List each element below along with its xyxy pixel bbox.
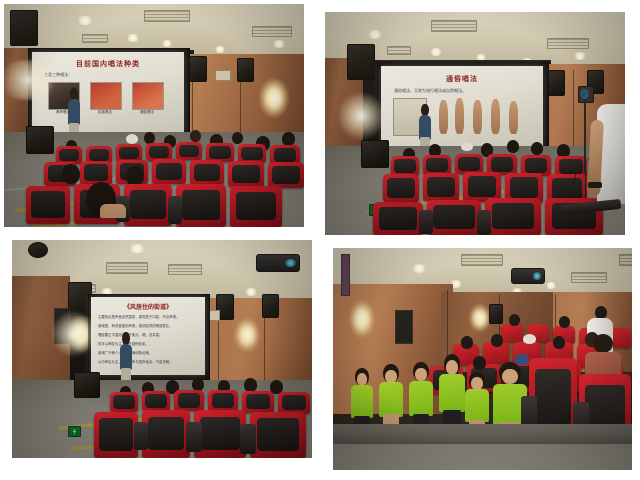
seat-armrest	[240, 424, 256, 454]
theater-seat-foreground	[176, 184, 226, 227]
speaker-icon	[28, 242, 48, 258]
ceiling-downlight	[214, 46, 226, 53]
child-face	[471, 377, 482, 389]
slide-bullet: 音域宽、有低音部的声音，强调自然的情感表达。	[98, 323, 200, 328]
exit-floor-sign-icon	[68, 426, 81, 437]
child-green-tshirt	[439, 374, 465, 412]
seat-armrest	[134, 422, 148, 450]
theater-seat-foreground	[373, 202, 423, 235]
audience-head	[473, 356, 486, 370]
ceiling-downlight	[272, 40, 286, 48]
ceiling-vent	[461, 254, 503, 266]
theater-seat	[174, 390, 204, 411]
theater-seat-foreground	[124, 184, 172, 226]
audience-head-cap	[126, 134, 138, 144]
theater-seat	[228, 161, 264, 187]
ceiling-vent	[571, 272, 607, 283]
subwoofer-icon	[361, 140, 389, 168]
slide-thumbnail	[132, 82, 164, 110]
adult-head	[593, 334, 613, 353]
wall-sconce	[349, 300, 375, 338]
audience-head	[553, 336, 565, 349]
ceiling-vent	[547, 38, 589, 49]
theater-seat	[176, 142, 202, 160]
child-face	[446, 360, 458, 374]
projection-screen-surface: 目前国内唱法种类 主要三种唱法： 美声唱法 民族唱法 通俗唱法	[32, 52, 184, 134]
audience-head	[509, 314, 520, 326]
slide-bullet: 咬字以声腔为主，多于感情色彩。	[98, 341, 200, 346]
wristwatch	[588, 182, 602, 188]
floor-shadow	[333, 424, 632, 444]
theater-seat	[190, 160, 224, 185]
audience-head	[62, 164, 80, 184]
child-green-tshirt	[465, 389, 490, 422]
seat-armrest	[168, 196, 182, 224]
slide-dancer-figure	[509, 101, 518, 134]
ceiling-vent	[431, 20, 477, 32]
slide-dancer-figure	[473, 100, 482, 134]
theater-seat	[383, 174, 419, 202]
ceiling-downlight	[367, 30, 383, 39]
audience-head	[282, 132, 295, 146]
auditorium-scene-bottom-right	[333, 248, 632, 470]
ceiling-vent	[252, 26, 292, 37]
audience-arm	[100, 204, 126, 218]
seat-armrest	[186, 422, 202, 452]
slide-bullet: 音域广于两个八度，旋律线条优美。	[98, 350, 200, 355]
theater-seat	[268, 162, 304, 188]
ceiling-projector	[256, 254, 300, 272]
ceiling-downlight	[76, 16, 94, 25]
ceiling-downlight	[161, 40, 173, 47]
theater-seat	[278, 392, 310, 414]
photo-panel-top-right[interactable]: 通俗唱法 通俗唱法，又称为流行唱法或自然唱法。	[325, 12, 625, 235]
slide-dancer-figure	[491, 99, 500, 134]
slide-dancer-figure	[439, 100, 448, 134]
slide-bullet: 唱腔要正平直而不露于卖点，唱、念并重。	[98, 332, 200, 337]
presenter-torso	[419, 115, 431, 140]
projection-screen-surface: 《风居住的街道》 主要特点是声音自然靠前，感觉放于口腔，不见声带。 音域宽、有低…	[91, 297, 205, 375]
theater-seat	[242, 391, 274, 413]
presenter-torso	[120, 344, 132, 371]
slide-title: 通俗唱法	[391, 74, 534, 84]
ceiling-vent	[144, 10, 190, 22]
theater-seat-foreground	[427, 200, 481, 235]
slide-thumbnail-caption: 通俗唱法	[132, 110, 162, 115]
slide-thumbnail	[90, 82, 122, 110]
photo-panel-top-left[interactable]: 目前国内唱法种类 主要三种唱法： 美声唱法 民族唱法 通俗唱法	[4, 4, 304, 227]
projection-screen-surface: 通俗唱法 通俗唱法，又称为流行唱法或自然唱法。	[381, 66, 543, 146]
ceiling-vent	[168, 264, 202, 275]
theater-seat	[391, 156, 419, 176]
wall-sconce	[259, 78, 289, 118]
speaker-icon	[237, 58, 254, 82]
audience-head	[232, 132, 243, 144]
slide-subtitle: 通俗唱法，又称为流行唱法或自然唱法。	[394, 88, 530, 94]
theater-seat	[208, 390, 238, 411]
audience-head	[491, 334, 503, 347]
auditorium-scene-top-right: 通俗唱法 通俗唱法，又称为流行唱法或自然唱法。	[325, 12, 625, 235]
presenter-head	[122, 332, 129, 345]
ceiling-downlight	[244, 288, 258, 296]
auditorium-scene-top-left: 目前国内唱法种类 主要三种唱法： 美声唱法 民族唱法 通俗唱法	[4, 4, 304, 227]
slide-bullet: 主要特点是声音自然靠前，感觉放于口腔，不见声带。	[98, 314, 200, 319]
speaker-icon	[262, 294, 279, 318]
child-face	[357, 373, 367, 385]
photo-collage: 目前国内唱法种类 主要三种唱法： 美声唱法 民族唱法 通俗唱法	[0, 0, 640, 480]
subwoofer-icon	[26, 126, 54, 154]
ceiling-downlight	[411, 264, 427, 273]
theater-seat	[142, 391, 170, 411]
slide-dancer-figure	[455, 98, 464, 134]
audience-head	[559, 316, 570, 328]
audience-head-cap	[461, 142, 473, 151]
theater-seat-foreground	[94, 412, 138, 458]
audience-head	[126, 166, 144, 186]
exit-sign-plate	[215, 70, 231, 81]
wall-plaque	[341, 254, 350, 296]
wall-sconce	[234, 318, 260, 352]
wall-sconce	[469, 304, 491, 332]
lens-flare	[339, 90, 383, 142]
tripod-pole	[584, 99, 586, 173]
theater-seat	[110, 392, 138, 412]
child-face	[502, 369, 517, 384]
ceiling-projector	[511, 268, 545, 284]
seat-armrest	[419, 210, 433, 234]
child-face	[385, 370, 396, 383]
audience-head	[244, 378, 257, 392]
ceiling-vent	[82, 34, 108, 43]
theater-seat	[152, 159, 186, 184]
slide-thumbnail-caption: 民族唱法	[90, 110, 120, 115]
child-face	[415, 368, 426, 381]
photo-panel-bottom-right[interactable]	[333, 248, 632, 470]
child-green-tshirt	[379, 382, 404, 417]
auditorium-scene-bottom-left: 《风居住的街道》 主要特点是声音自然靠前，感觉放于口腔，不见声带。 音域宽、有低…	[12, 240, 312, 458]
theater-seat-back	[501, 324, 523, 342]
theater-seat	[80, 161, 112, 185]
speaker-icon	[10, 10, 38, 46]
child-green-tshirt	[409, 381, 434, 417]
audience-head	[190, 130, 201, 142]
child-green-tshirt	[351, 385, 374, 418]
ceiling-vent	[619, 254, 632, 266]
speaker-icon	[189, 56, 207, 82]
tripod-leg	[585, 164, 586, 198]
theater-seat	[423, 173, 459, 201]
ceiling-downlight	[429, 48, 443, 56]
presenter-torso	[68, 99, 80, 125]
speaker-icon	[489, 304, 503, 324]
lens-flare	[52, 310, 96, 358]
ceiling-downlight	[573, 52, 587, 60]
slide-title: 目前国内唱法种类	[41, 59, 175, 69]
ceiling-vent	[106, 262, 148, 274]
subwoofer-icon	[74, 372, 100, 398]
slide-subtitle: 主要三种唱法：	[44, 72, 172, 78]
theater-seat-foreground	[230, 186, 282, 227]
audience-head	[507, 140, 519, 153]
audience-head	[461, 336, 473, 349]
theater-seat	[423, 155, 451, 175]
theater-seat-foreground	[142, 410, 190, 458]
audience-head-cap	[523, 334, 536, 344]
theater-seat-foreground	[26, 186, 70, 224]
camera-icon	[578, 86, 594, 103]
slide-bullet: 以中声区为主，多用真声与混声结合，气息流畅。	[98, 359, 200, 364]
photo-panel-bottom-left[interactable]: 《风居住的街道》 主要特点是声音自然靠前，感觉放于口腔，不见声带。 音域宽、有低…	[12, 240, 312, 458]
theater-seat-foreground	[250, 412, 306, 458]
wall-plaque	[395, 310, 413, 344]
theater-seat-foreground	[485, 198, 541, 235]
theater-seat	[455, 154, 483, 174]
ceiling-vent	[387, 46, 411, 55]
ceiling-downlight	[128, 244, 146, 253]
ceiling-downlight	[126, 34, 140, 42]
ceiling-downlight	[545, 282, 557, 289]
seat-armrest	[477, 210, 491, 235]
audience-head	[531, 142, 543, 155]
speaker-icon	[547, 70, 565, 96]
slide-title: 《风居住的街道》	[98, 302, 198, 311]
speaker-icon	[347, 44, 375, 80]
